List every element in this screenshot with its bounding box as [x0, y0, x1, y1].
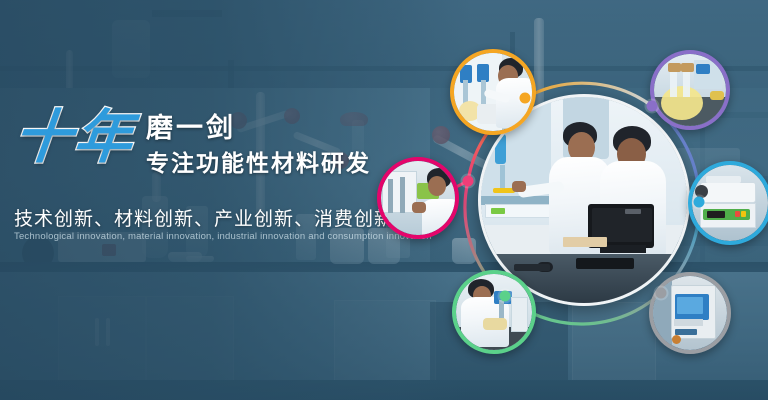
monitor-display	[677, 297, 703, 314]
blue-clamp	[696, 64, 710, 74]
circle-graphic-composition	[400, 30, 768, 370]
bubble-photo	[454, 53, 532, 131]
instrument-rod	[400, 177, 405, 213]
bubble-technician-at-instrument[interactable]	[377, 157, 459, 239]
bubble-photo	[456, 274, 532, 350]
sample-material	[483, 318, 507, 330]
person-hand	[412, 202, 426, 213]
monitor-logo	[625, 209, 641, 214]
digital-readout	[707, 211, 725, 218]
node-gray[interactable]	[656, 288, 667, 299]
person-labcoat	[422, 199, 455, 235]
indicator-light	[735, 211, 740, 217]
blue-apparatus	[495, 134, 506, 164]
headline-line-2: 专注功能性材料研发	[146, 148, 371, 179]
bubble-photo	[654, 54, 726, 126]
promotional-banner: 十年 磨一剑 专注功能性材料研发 技术创新、材料创新、产业创新、消费创新 Tec…	[0, 0, 768, 400]
cork-stopper	[681, 63, 694, 72]
bubble-photo	[653, 276, 727, 350]
node-green[interactable]	[500, 291, 511, 302]
cork-stopper	[668, 63, 681, 72]
machine-arm	[706, 176, 741, 183]
headline-accent-word: 十年	[11, 108, 137, 166]
keyboard	[576, 258, 634, 269]
instrument-rod	[388, 179, 393, 213]
researcher-left-hand	[512, 181, 526, 192]
desk-object	[514, 264, 550, 271]
paper-stack	[563, 237, 607, 247]
tagline-english: Technological innovation, material innov…	[14, 231, 432, 242]
machine-base-strip	[675, 329, 697, 335]
indicator-light	[741, 211, 746, 217]
node-pink[interactable]	[463, 176, 474, 187]
machine-tray	[674, 319, 704, 326]
node-orange[interactable]	[520, 93, 531, 104]
headline-lines: 磨一剑 专注功能性材料研发	[146, 108, 371, 179]
side-instrument	[511, 297, 528, 332]
node-purple[interactable]	[647, 101, 658, 112]
instrument-display	[491, 208, 505, 214]
bubble-researcher-weighing-sample[interactable]	[452, 270, 536, 354]
tagline-chinese: 技术创新、材料创新、产业创新、消费创新	[14, 204, 394, 231]
monitor-stand	[600, 245, 646, 253]
machine-upper	[700, 182, 757, 204]
headline-line-1: 磨一剑	[146, 112, 371, 146]
headline-row: 十年 磨一剑 专注功能性材料研发	[14, 108, 371, 179]
bubble-testing-machine-with-monitor[interactable]	[649, 272, 731, 354]
headline-text-block: 十年 磨一剑 专注功能性材料研发 技术创新、材料创新、产业创新、消费创新 Tec…	[0, 0, 420, 400]
bubble-flask-with-yellow-liquid[interactable]	[650, 50, 730, 130]
yellow-item	[710, 91, 724, 100]
node-blue[interactable]	[694, 197, 705, 208]
bubble-photo	[381, 161, 455, 235]
